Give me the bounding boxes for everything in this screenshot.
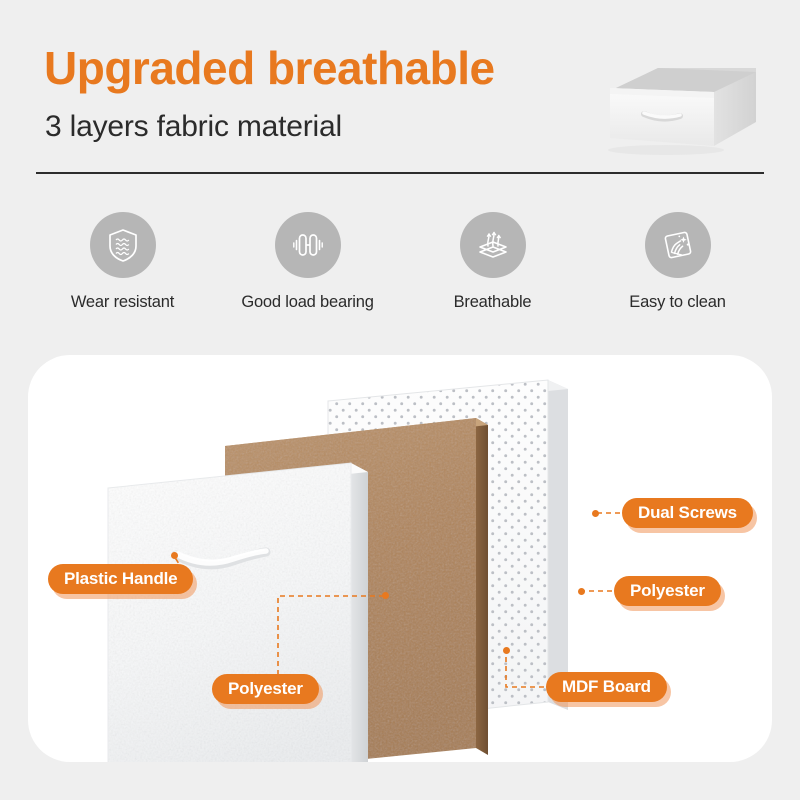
feature-item-load-bearing: Good load bearing	[215, 212, 400, 312]
breathable-layers-icon	[460, 212, 526, 278]
page-title: Upgraded breathable	[44, 44, 495, 92]
dumbbell-icon	[275, 212, 341, 278]
callout-dot-polyester-back	[578, 588, 585, 595]
page-subtitle: 3 layers fabric material	[45, 110, 342, 144]
feature-item-breathable: Breathable	[400, 212, 585, 312]
callout-dot-plastic-handle	[171, 552, 178, 559]
feature-label: Easy to clean	[629, 293, 725, 312]
feature-list: Wear resistant Good load bearing	[30, 212, 770, 332]
feature-label: Wear resistant	[71, 293, 174, 312]
feature-label: Good load bearing	[241, 293, 373, 312]
callout-dot-dual-screws	[592, 510, 599, 517]
callout-dot-polyester-front	[382, 592, 389, 599]
feature-item-wear-resistant: Wear resistant	[30, 212, 215, 312]
callout-polyester-front[interactable]: Polyester	[212, 674, 319, 704]
hand-wipe-sparkle-icon	[645, 212, 711, 278]
callout-leader-lines	[28, 355, 772, 762]
shield-wave-icon	[90, 212, 156, 278]
callout-dot-mdf-board	[503, 647, 510, 654]
infographic-root: Upgraded breathable 3 layers fabric mate…	[0, 0, 800, 800]
header-divider	[36, 172, 764, 174]
callout-polyester-back[interactable]: Polyester	[614, 576, 721, 606]
material-diagram-card: Plastic Handle Polyester Dual Screws Pol…	[28, 355, 772, 762]
callout-mdf-board[interactable]: MDF Board	[546, 672, 667, 702]
callout-plastic-handle[interactable]: Plastic Handle	[48, 564, 193, 594]
feature-item-easy-to-clean: Easy to clean	[585, 212, 770, 312]
product-thumbnail	[596, 46, 786, 166]
feature-label: Breathable	[454, 293, 532, 312]
callout-dual-screws[interactable]: Dual Screws	[622, 498, 753, 528]
